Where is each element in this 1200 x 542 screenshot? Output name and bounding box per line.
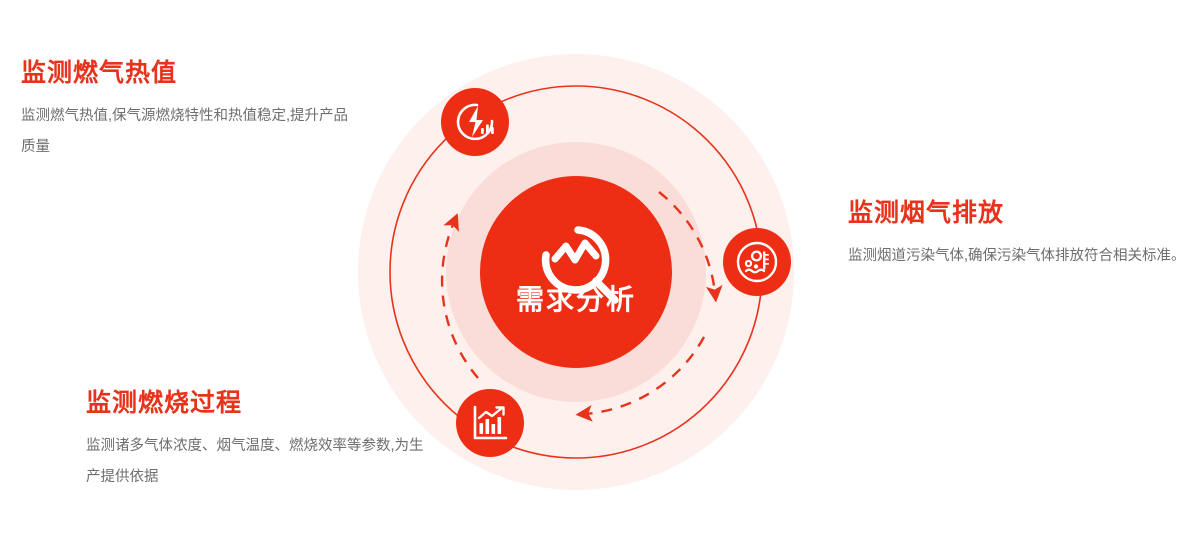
body-heat-value: 监测燃气热值,保气源燃烧特性和热值稳定,提升产品质量 <box>21 101 361 163</box>
node-flue-gas[interactable] <box>723 228 791 296</box>
node-flue-gas-badge[interactable] <box>723 228 791 296</box>
heading-heat-value: 监测燃气热值 <box>21 58 366 88</box>
text-block-flue-gas: 监测烟气排放 监测烟道污染气体,确保污染气体排放符合相关标准。 <box>848 198 1193 272</box>
heading-flue-gas: 监测烟气排放 <box>848 198 1193 228</box>
infographic-canvas: 监测燃气热值 监测燃气热值,保气源燃烧特性和热值稳定,提升产品质量 监测烟气排放… <box>0 0 1200 542</box>
cycle-diagram: 需求分析 <box>341 37 811 507</box>
body-flue-gas: 监测烟道污染气体,确保污染气体排放符合相关标准。 <box>848 241 1193 272</box>
node-heat-value[interactable] <box>441 88 509 156</box>
center-core-circle <box>480 176 672 368</box>
text-block-heat-value: 监测燃气热值 监测燃气热值,保气源燃烧特性和热值稳定,提升产品质量 <box>21 58 366 163</box>
node-combustion-badge[interactable] <box>456 389 524 457</box>
node-combustion[interactable] <box>456 389 524 457</box>
